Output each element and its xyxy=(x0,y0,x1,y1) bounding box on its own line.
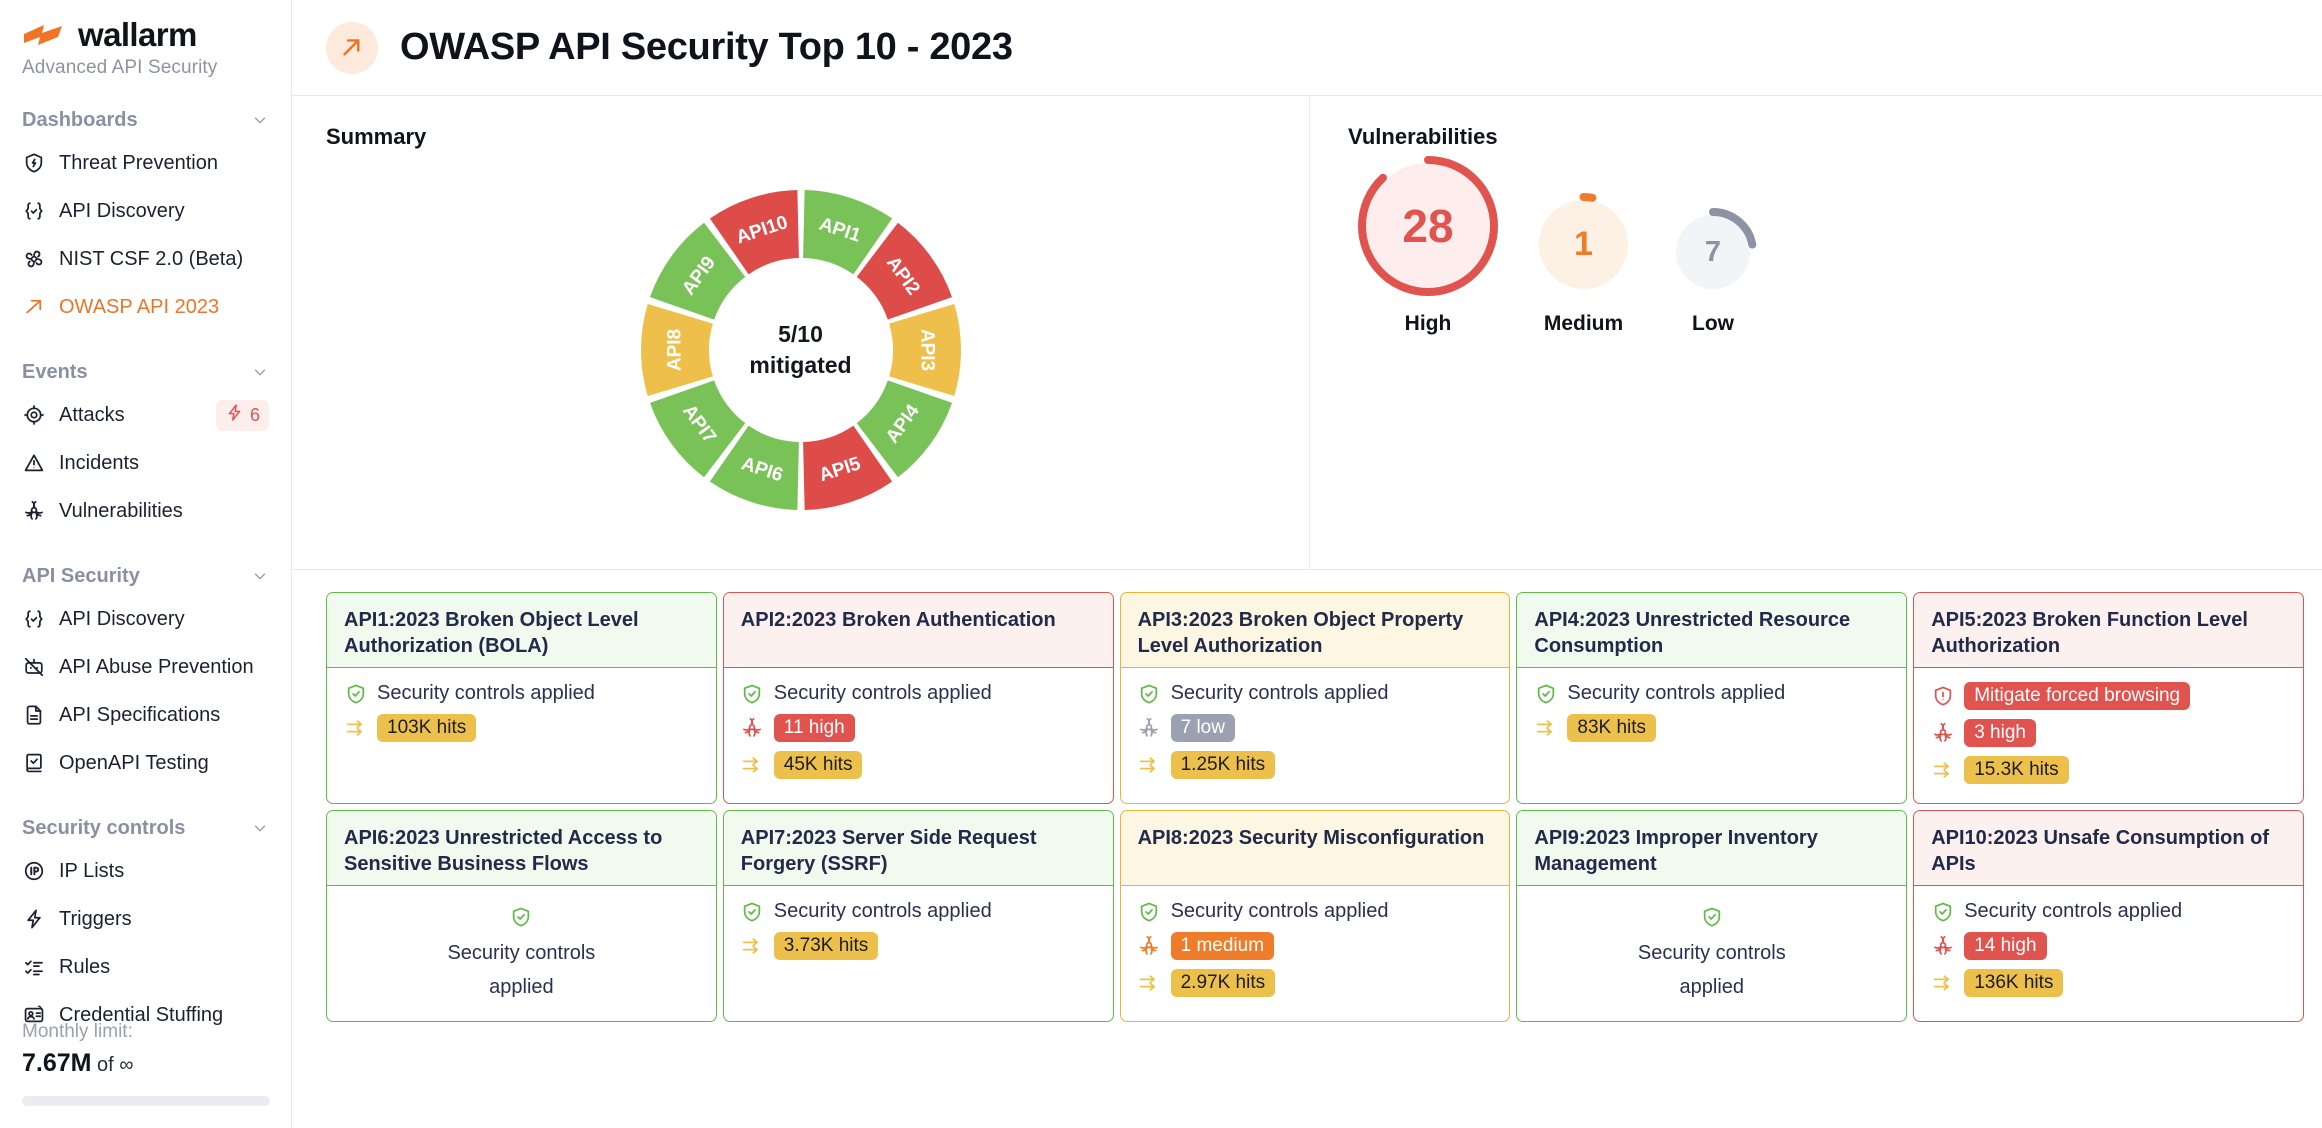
brand-name: wallarm xyxy=(78,18,197,51)
monthly-limit: Monthly limit: 7.67M of ∞ xyxy=(0,1021,292,1106)
sidebar-item-api-abuse-prevention[interactable]: API Abuse Prevention xyxy=(0,643,291,691)
owasp-cards-grid: API1:2023 Broken Object Level Authorizat… xyxy=(292,570,2322,1022)
monthly-limit-max: ∞ xyxy=(119,1054,133,1076)
top-panels: Summary API1API2API3API4API5API6API7API8… xyxy=(292,96,2322,570)
card-body: Security controls applied 3.73K hits xyxy=(724,886,1113,1021)
brand-tagline: Advanced API Security xyxy=(0,51,291,79)
card-pill[interactable]: 15.3K hits xyxy=(1964,756,2069,784)
summary-donut-wrap: API1API2API3API4API5API6API7API8API9API1… xyxy=(292,150,1309,550)
owasp-card[interactable]: API9:2023 Improper Inventory Management … xyxy=(1516,810,1907,1022)
traffic-icon xyxy=(1931,759,1954,782)
card-detail-row: 83K hits xyxy=(1534,714,1889,742)
card-detail-row: Security controls applied xyxy=(741,682,1096,705)
chevron-down-icon[interactable] xyxy=(251,819,269,837)
traffic-icon xyxy=(741,754,764,777)
card-detail-row: 136K hits xyxy=(1931,969,2286,997)
card-pill[interactable]: 136K hits xyxy=(1964,969,2063,997)
card-detail-row: Security controls applied xyxy=(1931,900,2286,923)
sidebar-item-label: IP Lists xyxy=(59,860,269,883)
shield-check-icon xyxy=(510,906,532,933)
card-body: Security controls applied 11 high 45K hi… xyxy=(724,668,1113,803)
card-status-line1: Security controls xyxy=(447,939,595,967)
sidebar-nav: DashboardsThreat PreventionAPI Discovery… xyxy=(0,101,291,1039)
card-row-text: Security controls applied xyxy=(1171,682,1389,705)
card-detail-row: Security controls applied xyxy=(1138,900,1493,923)
main-content: OWASP API Security Top 10 - 2023 Summary… xyxy=(292,0,2322,1128)
card-row-text: Security controls applied xyxy=(1964,900,2182,923)
book-check-icon xyxy=(22,752,45,775)
sidebar-item-label: Threat Prevention xyxy=(59,152,269,175)
card-title: API6:2023 Unrestricted Access to Sensiti… xyxy=(327,811,716,886)
svg-text:API8: API8 xyxy=(664,329,685,371)
shield-alert-icon xyxy=(1931,685,1954,708)
card-pill[interactable]: 3 high xyxy=(1964,719,2036,747)
card-title: API5:2023 Broken Function Level Authoriz… xyxy=(1914,593,2303,668)
brand[interactable]: wallarm xyxy=(0,18,291,51)
monthly-limit-label: Monthly limit: xyxy=(22,1021,270,1043)
sidebar-section-security-controls[interactable]: Security controls xyxy=(0,809,291,847)
robot-off-icon xyxy=(22,656,45,679)
arrow-up-right-icon xyxy=(22,296,45,319)
traffic-icon xyxy=(1534,717,1557,740)
card-detail-row: 3.73K hits xyxy=(741,932,1096,960)
monthly-limit-value: 7.67M of ∞ xyxy=(22,1049,270,1078)
attacks-badge[interactable]: 6 xyxy=(216,400,269,431)
monthly-limit-used: 7.67M xyxy=(22,1049,91,1077)
sidebar-item-label: OpenAPI Testing xyxy=(59,752,269,775)
card-pill[interactable]: 3.73K hits xyxy=(774,932,879,960)
card-detail-row: 14 high xyxy=(1931,932,2286,960)
sidebar-item-api-discovery[interactable]: API Discovery xyxy=(0,187,291,235)
arrow-up-right-icon xyxy=(326,22,378,74)
gauge-low[interactable]: 7 Low xyxy=(1669,208,1757,336)
sidebar-item-label: NIST CSF 2.0 (Beta) xyxy=(59,248,269,271)
card-detail-row: 7 low xyxy=(1138,714,1493,742)
card-row: API1:2023 Broken Object Level Authorizat… xyxy=(326,592,2304,804)
page-title: OWASP API Security Top 10 - 2023 xyxy=(400,26,1013,69)
card-detail-row: 45K hits xyxy=(741,751,1096,779)
wallarm-logo-icon xyxy=(22,22,68,48)
traffic-icon xyxy=(1931,972,1954,995)
card-row-text: Security controls applied xyxy=(1171,900,1389,923)
traffic-icon xyxy=(1138,754,1161,777)
page-header: OWASP API Security Top 10 - 2023 xyxy=(292,0,2322,96)
sidebar-item-openapi-testing[interactable]: OpenAPI Testing xyxy=(0,739,291,787)
card-title: API2:2023 Broken Authentication xyxy=(724,593,1113,668)
gauge-value: 7 xyxy=(1669,208,1757,296)
sidebar-item-label: Vulnerabilities xyxy=(59,500,269,523)
attacks-badge-count: 6 xyxy=(250,405,260,426)
sidebar-item-label: API Specifications xyxy=(59,704,269,727)
pinwheel-icon xyxy=(22,248,45,271)
card-title: API8:2023 Security Misconfiguration xyxy=(1121,811,1510,886)
card-status-line1: Security controls xyxy=(1638,939,1786,967)
sidebar-item-label: Triggers xyxy=(59,908,269,931)
card-pill[interactable]: 1.25K hits xyxy=(1171,751,1276,779)
ip-circle-icon xyxy=(22,860,45,883)
gauge-value: 1 xyxy=(1532,193,1635,296)
shield-check-icon xyxy=(741,900,764,923)
sidebar-item-api-specifications[interactable]: API Specifications xyxy=(0,691,291,739)
card-pill[interactable]: 2.97K hits xyxy=(1171,969,1276,997)
card-pill[interactable]: Mitigate forced browsing xyxy=(1964,682,2190,710)
card-detail-row: 1.25K hits xyxy=(1138,751,1493,779)
card-status-line2: applied xyxy=(489,973,554,1001)
monthly-limit-of: of xyxy=(97,1054,114,1076)
card-body: Security controls applied xyxy=(327,886,716,1021)
shield-bolt-icon xyxy=(22,152,45,175)
card-pill[interactable]: 83K hits xyxy=(1567,714,1656,742)
sidebar-section-label: Dashboards xyxy=(22,109,138,132)
sidebar: wallarm Advanced API Security Dashboards… xyxy=(0,0,292,1128)
vulnerabilities-title: Vulnerabilities xyxy=(1348,124,2322,150)
card-title: API1:2023 Broken Object Level Authorizat… xyxy=(327,593,716,668)
owasp-card[interactable]: API1:2023 Broken Object Level Authorizat… xyxy=(326,592,717,804)
card-detail-row: 103K hits xyxy=(344,714,699,742)
card-body: Mitigate forced browsing 3 high 15.3K hi… xyxy=(1914,668,2303,803)
owasp-card[interactable]: API8:2023 Security Misconfiguration Secu… xyxy=(1120,810,1511,1022)
shield-check-icon xyxy=(1534,682,1557,705)
biohazard-icon xyxy=(1931,722,1954,745)
card-pill[interactable]: 45K hits xyxy=(774,751,863,779)
chevron-down-icon[interactable] xyxy=(251,111,269,129)
bolt-icon xyxy=(225,403,244,427)
gauge-medium[interactable]: 1 Medium xyxy=(1532,193,1635,336)
biohazard-icon xyxy=(741,717,764,740)
sidebar-item-owasp-api-2023[interactable]: OWASP API 2023 xyxy=(0,283,291,331)
sidebar-section-label: Events xyxy=(22,361,88,384)
sidebar-item-threat-prevention[interactable]: Threat Prevention xyxy=(0,139,291,187)
owasp-card[interactable]: API2:2023 Broken Authentication Security… xyxy=(723,592,1114,804)
card-title: API10:2023 Unsafe Consumption of APIs xyxy=(1914,811,2303,886)
card-detail-row: Mitigate forced browsing xyxy=(1931,682,2286,710)
summary-title: Summary xyxy=(326,124,1309,150)
gauge-ring: 7 xyxy=(1669,208,1757,296)
card-detail-row: Security controls applied xyxy=(344,682,699,705)
card-title: API3:2023 Broken Object Property Level A… xyxy=(1121,593,1510,668)
gauge-label: Medium xyxy=(1544,312,1623,336)
card-pill[interactable]: 11 high xyxy=(774,714,855,742)
card-detail-row: 15.3K hits xyxy=(1931,756,2286,784)
card-body: Security controls applied 83K hits xyxy=(1517,668,1906,803)
app-root: wallarm Advanced API Security Dashboards… xyxy=(0,0,2322,1128)
biohazard-gray-icon xyxy=(1138,717,1161,740)
sidebar-item-attacks[interactable]: Attacks6 xyxy=(0,391,291,439)
sidebar-item-label: API Discovery xyxy=(59,608,269,631)
card-detail-row: Security controls applied xyxy=(741,900,1096,923)
traffic-icon xyxy=(1138,972,1161,995)
sidebar-item-rules[interactable]: Rules xyxy=(0,943,291,991)
shield-check-icon xyxy=(344,682,367,705)
owasp-card[interactable]: API5:2023 Broken Function Level Authoriz… xyxy=(1913,592,2304,804)
sidebar-item-incidents[interactable]: Incidents xyxy=(0,439,291,487)
sidebar-item-label: Rules xyxy=(59,956,269,979)
shield-check-icon xyxy=(1931,900,1954,923)
card-pill[interactable]: 103K hits xyxy=(377,714,476,742)
summary-panel: Summary API1API2API3API4API5API6API7API8… xyxy=(292,96,1310,569)
card-row-text: Security controls applied xyxy=(1567,682,1785,705)
bolt-icon xyxy=(22,908,45,931)
sidebar-item-label: OWASP API 2023 xyxy=(59,296,269,319)
sidebar-item-triggers[interactable]: Triggers xyxy=(0,895,291,943)
gauge-value: 28 xyxy=(1358,156,1498,296)
sidebar-section-api-security[interactable]: API Security xyxy=(0,557,291,595)
card-detail-row: 2.97K hits xyxy=(1138,969,1493,997)
gauge-label: Low xyxy=(1692,312,1734,336)
card-body: Security controls applied 14 high 136K h… xyxy=(1914,886,2303,1021)
biohazard-icon xyxy=(22,500,45,523)
card-row-text: Security controls applied xyxy=(377,682,595,705)
card-status-line2: applied xyxy=(1680,973,1745,1001)
document-icon xyxy=(22,704,45,727)
owasp-card[interactable]: API10:2023 Unsafe Consumption of APIs Se… xyxy=(1913,810,2304,1022)
sidebar-section-label: Security controls xyxy=(22,817,185,840)
sidebar-item-api-discovery[interactable]: API Discovery xyxy=(0,595,291,643)
sidebar-item-vulnerabilities[interactable]: Vulnerabilities xyxy=(0,487,291,535)
card-detail-row: 11 high xyxy=(741,714,1096,742)
card-detail-row: 1 medium xyxy=(1138,932,1493,960)
owasp-card[interactable]: API4:2023 Unrestricted Resource Consumpt… xyxy=(1516,592,1907,804)
owasp-card[interactable]: API3:2023 Broken Object Property Level A… xyxy=(1120,592,1511,804)
target-icon xyxy=(22,404,45,427)
sidebar-section-label: API Security xyxy=(22,565,140,588)
card-title: API4:2023 Unrestricted Resource Consumpt… xyxy=(1517,593,1906,668)
svg-text:API3: API3 xyxy=(916,329,937,371)
shield-check-icon xyxy=(1701,906,1723,933)
card-body: Security controls applied 7 low 1.25K hi… xyxy=(1121,668,1510,803)
card-detail-row: 3 high xyxy=(1931,719,2286,747)
card-title: API7:2023 Server Side Request Forgery (S… xyxy=(724,811,1113,886)
owasp-card[interactable]: API6:2023 Unrestricted Access to Sensiti… xyxy=(326,810,717,1022)
shield-check-icon xyxy=(1138,900,1161,923)
sidebar-section-events[interactable]: Events xyxy=(0,353,291,391)
gauge-high[interactable]: 28 High xyxy=(1358,156,1498,336)
chevron-down-icon[interactable] xyxy=(251,567,269,585)
gauge-ring: 28 xyxy=(1358,156,1498,296)
biohazard-orange-icon xyxy=(1138,935,1161,958)
card-body: Security controls applied 103K hits xyxy=(327,668,716,803)
sidebar-item-label: Attacks xyxy=(59,404,202,427)
card-detail-row: Security controls applied xyxy=(1138,682,1493,705)
owasp-donut-chart[interactable]: API1API2API3API4API5API6API7API8API9API1… xyxy=(633,182,969,518)
card-pill[interactable]: 14 high xyxy=(1964,932,2046,960)
sidebar-item-ip-lists[interactable]: IP Lists xyxy=(0,847,291,895)
card-row-text: Security controls applied xyxy=(774,900,992,923)
shield-check-icon xyxy=(741,682,764,705)
sidebar-section-dashboards[interactable]: Dashboards xyxy=(0,101,291,139)
card-body: Security controls applied 1 medium 2.97K… xyxy=(1121,886,1510,1021)
traffic-icon xyxy=(741,935,764,958)
biohazard-icon xyxy=(1931,935,1954,958)
card-body: Security controls applied xyxy=(1517,886,1906,1021)
card-title: API9:2023 Improper Inventory Management xyxy=(1517,811,1906,886)
gauge-ring: 1 xyxy=(1532,193,1635,296)
shield-check-icon xyxy=(1138,682,1161,705)
braces-check-icon xyxy=(22,200,45,223)
sidebar-item-label: API Abuse Prevention xyxy=(59,656,269,679)
sidebar-item-label: API Discovery xyxy=(59,200,269,223)
vulnerabilities-panel: Vulnerabilities 28 High 1 Medium xyxy=(1310,96,2322,569)
traffic-icon xyxy=(344,717,367,740)
gauge-label: High xyxy=(1405,312,1452,336)
card-detail-row: Security controls applied xyxy=(1534,682,1889,705)
braces-check-icon xyxy=(22,608,45,631)
sidebar-item-label: Incidents xyxy=(59,452,269,475)
card-pill[interactable]: 7 low xyxy=(1171,714,1235,742)
chevron-down-icon[interactable] xyxy=(251,363,269,381)
checklist-icon xyxy=(22,956,45,979)
sidebar-item-nist-csf-2-0-beta-[interactable]: NIST CSF 2.0 (Beta) xyxy=(0,235,291,283)
vulnerability-gauges: 28 High 1 Medium 7 Low xyxy=(1348,156,2322,336)
card-row: API6:2023 Unrestricted Access to Sensiti… xyxy=(326,810,2304,1022)
card-row-text: Security controls applied xyxy=(774,682,992,705)
card-pill[interactable]: 1 medium xyxy=(1171,932,1274,960)
owasp-card[interactable]: API7:2023 Server Side Request Forgery (S… xyxy=(723,810,1114,1022)
warning-triangle-icon xyxy=(22,452,45,475)
monthly-limit-progress xyxy=(22,1096,270,1106)
